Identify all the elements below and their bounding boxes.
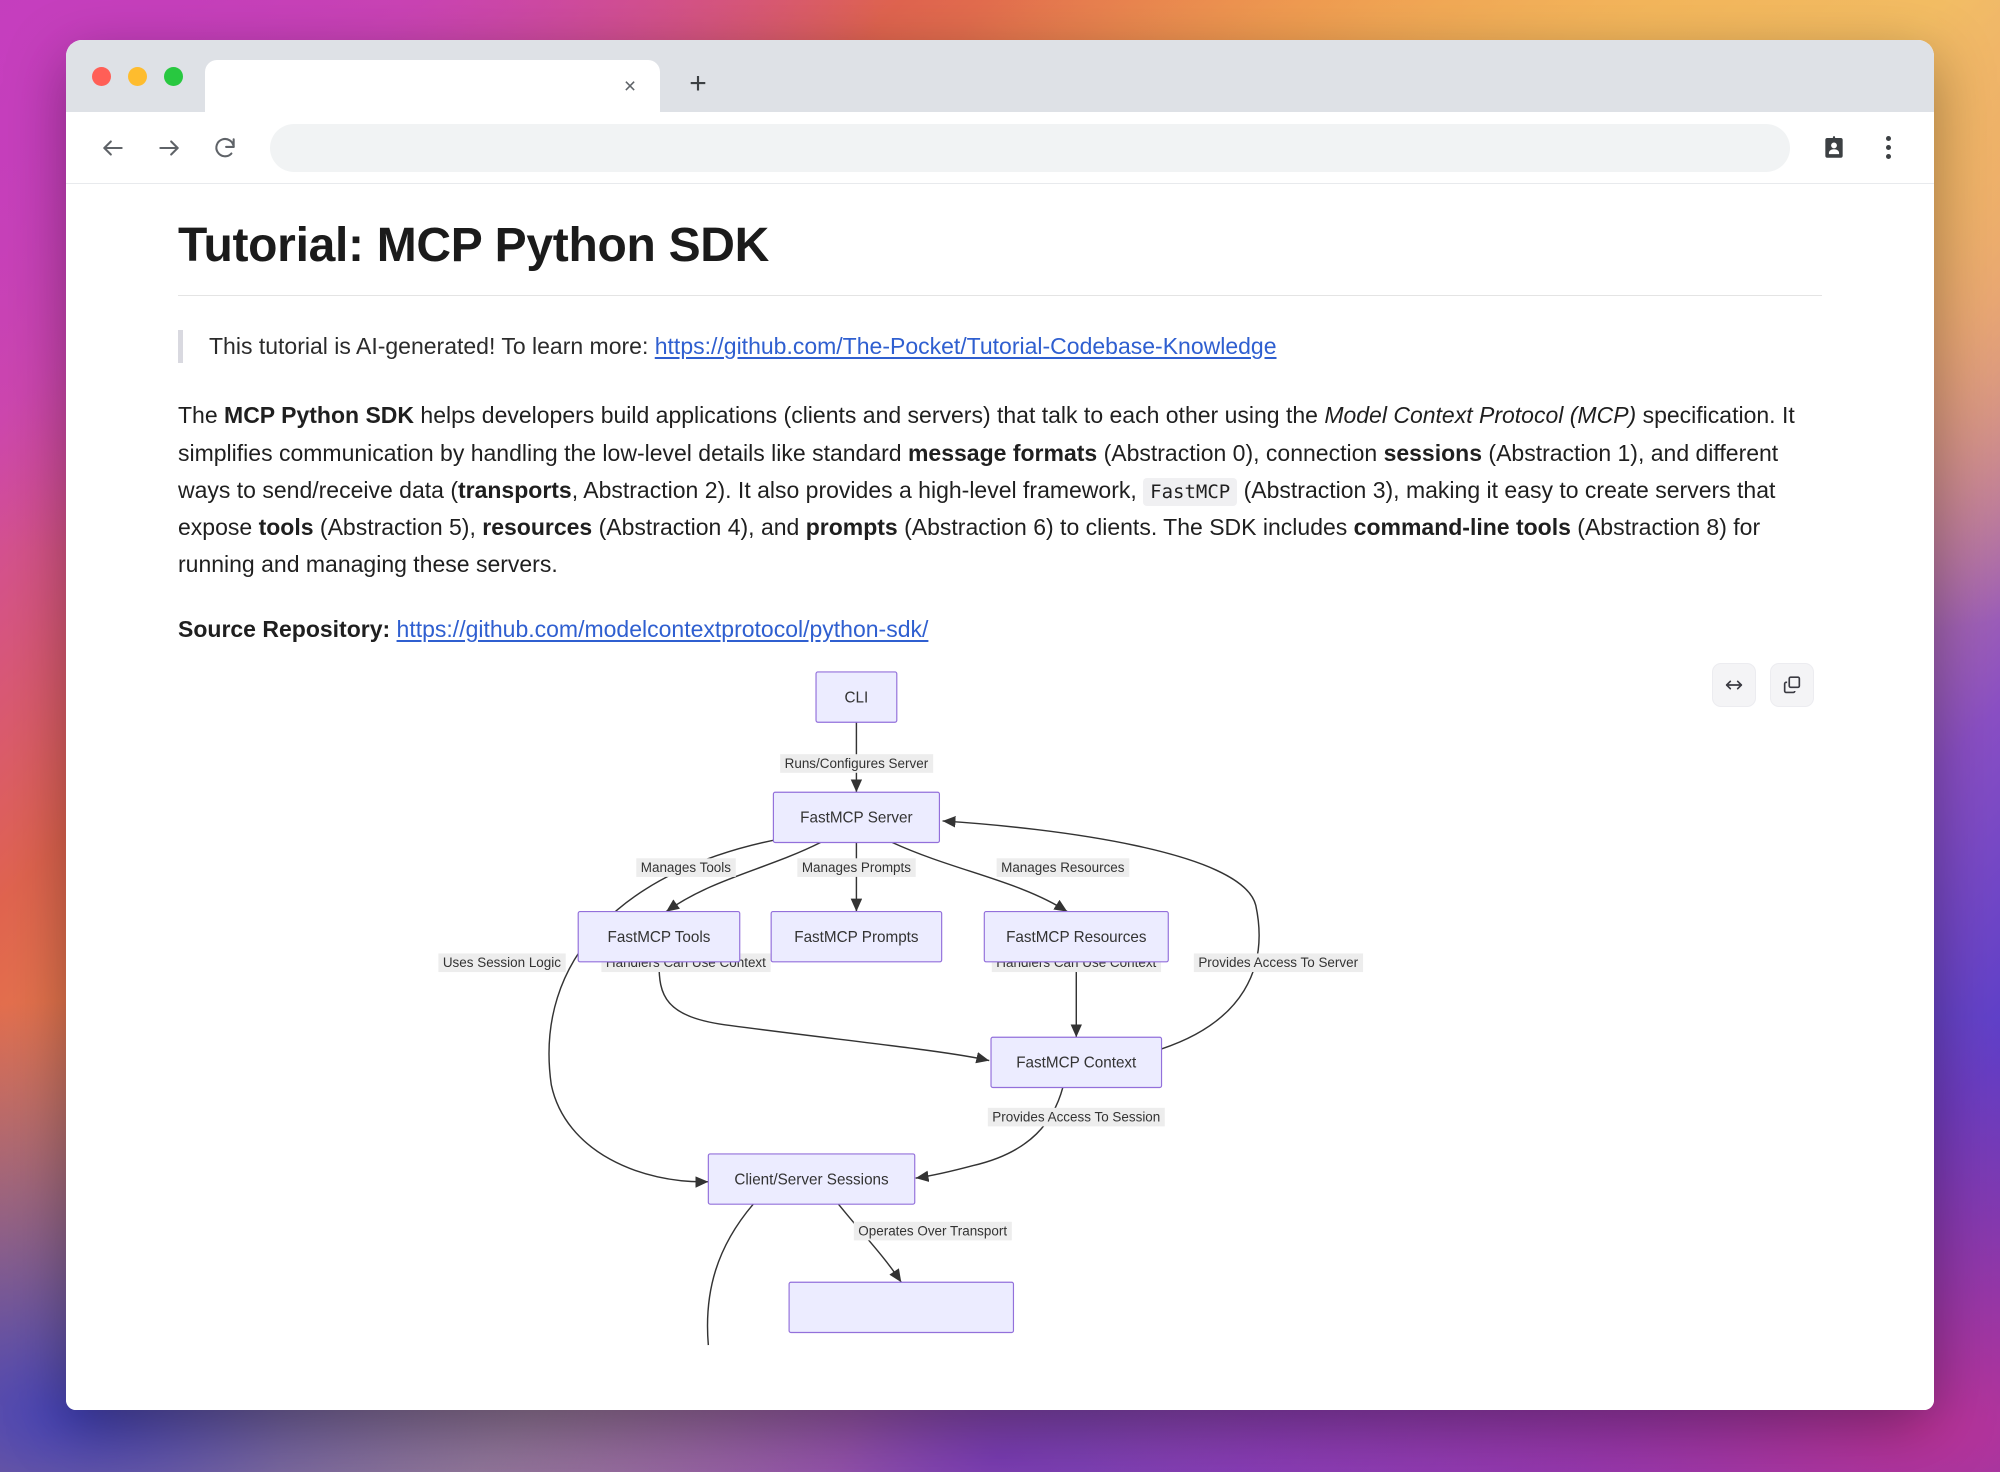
ai-generated-note: This tutorial is AI-generated! To learn … (178, 330, 1822, 363)
p-i1: Model Context Protocol (MCP) (1324, 402, 1636, 428)
diagram-edge-label: Operates Over Transport (854, 1221, 1012, 1240)
diagram-node-prompts: FastMCP Prompts (771, 911, 942, 961)
diagram-node-label: FastMCP Server (800, 809, 912, 826)
diagram-node-context: FastMCP Context (991, 1037, 1162, 1087)
svg-text:Manages Prompts: Manages Prompts (802, 860, 911, 875)
p-b6: resources (482, 514, 592, 540)
diagram-edge (892, 842, 1067, 911)
diagram-node-server: FastMCP Server (773, 792, 939, 842)
maximize-window-button[interactable] (164, 67, 183, 86)
diagram-node-label: CLI (845, 689, 869, 706)
p-b1: MCP Python SDK (224, 402, 414, 428)
new-tab-button[interactable]: + (674, 60, 722, 108)
p-s1: The (178, 402, 224, 428)
tab-strip: × + (66, 40, 1934, 112)
svg-text:Uses Session Logic: Uses Session Logic (443, 955, 561, 970)
svg-text:Provides Access To Session: Provides Access To Session (992, 1109, 1160, 1124)
minimize-window-button[interactable] (128, 67, 147, 86)
fit-width-button[interactable] (1712, 663, 1756, 707)
copy-button[interactable] (1770, 663, 1814, 707)
diagram-edge (838, 1204, 901, 1282)
browser-tab[interactable]: × (205, 60, 660, 112)
browser-toolbar (66, 112, 1934, 184)
diagram-node-sessions: Client/Server Sessions (708, 1153, 914, 1203)
three-dot-menu-icon[interactable] (1864, 124, 1912, 172)
window-controls (66, 67, 205, 112)
close-tab-icon[interactable]: × (616, 72, 644, 100)
profile-card-icon[interactable] (1810, 124, 1858, 172)
note-text: This tutorial is AI-generated! To learn … (209, 333, 655, 359)
diagram-node-tools: FastMCP Tools (578, 911, 740, 961)
diagram-edge-label: Provides Access To Session (988, 1107, 1165, 1126)
diagram-edge (916, 1087, 1063, 1178)
p-b7: prompts (806, 514, 898, 540)
fastmcp-code-chip: FastMCP (1143, 478, 1237, 506)
browser-window: × + (66, 40, 1934, 1410)
diagram-node-label: FastMCP Tools (608, 929, 711, 946)
source-repository-link[interactable]: https://github.com/modelcontextprotocol/… (397, 616, 929, 642)
p-s4: (Abstraction 0), connection (1097, 440, 1383, 466)
mermaid-diagram-container: Runs/Configures ServerManages ToolsManag… (178, 663, 1822, 1363)
address-bar[interactable] (270, 124, 1790, 172)
diagram-node-transport (789, 1282, 1013, 1332)
close-window-button[interactable] (92, 67, 111, 86)
diagram-edge (666, 842, 820, 911)
p-s2: helps developers build applications (cli… (414, 402, 1324, 428)
p-b4: transports (458, 477, 572, 503)
diagram-node-label: FastMCP Context (1016, 1054, 1137, 1071)
diagram-edge (659, 961, 989, 1060)
diagram-edge-label: Manages Tools (636, 858, 735, 877)
page-title: Tutorial: MCP Python SDK (178, 218, 1822, 296)
diagram-edge-label: Manages Prompts (797, 858, 915, 877)
diagram-edge-label: Runs/Configures Server (780, 754, 933, 773)
p-s10: (Abstraction 6) to clients. The SDK incl… (898, 514, 1354, 540)
source-repository-line: Source Repository: https://github.com/mo… (178, 616, 1822, 643)
diagram-edge-label: Provides Access To Server (1194, 953, 1363, 972)
source-repository-label: Source Repository: (178, 616, 397, 642)
svg-text:Runs/Configures Server: Runs/Configures Server (785, 756, 929, 771)
p-s6: , Abstraction 2). It also provides a hig… (572, 477, 1143, 503)
svg-text:Manages Resources: Manages Resources (1001, 860, 1125, 875)
intro-paragraph: The MCP Python SDK helps developers buil… (178, 397, 1822, 583)
forward-arrow-icon[interactable] (144, 123, 194, 173)
svg-text:Manages Tools: Manages Tools (641, 860, 732, 875)
p-s8: (Abstraction 5), (314, 514, 483, 540)
mermaid-flowchart: Runs/Configures ServerManages ToolsManag… (178, 663, 1822, 1363)
svg-text:Operates Over Transport: Operates Over Transport (858, 1223, 1007, 1238)
diagram-edge (549, 838, 780, 1181)
p-s9: (Abstraction 4), and (592, 514, 806, 540)
reload-icon[interactable] (200, 123, 250, 173)
diagram-node-label: FastMCP Resources (1006, 929, 1147, 946)
diagram-toolbar (1712, 663, 1814, 707)
p-b8: command-line tools (1354, 514, 1571, 540)
back-arrow-icon[interactable] (88, 123, 138, 173)
page-viewport[interactable]: Tutorial: MCP Python SDK This tutorial i… (66, 184, 1934, 1410)
p-b2: message formats (908, 440, 1097, 466)
diagram-edge-label: Manages Resources (997, 858, 1130, 877)
p-b5: tools (259, 514, 314, 540)
p-b3: sessions (1384, 440, 1482, 466)
diagram-node-resources: FastMCP Resources (984, 911, 1168, 961)
diagram-node-cli: CLI (816, 672, 897, 722)
svg-text:Provides Access To Server: Provides Access To Server (1198, 955, 1358, 970)
diagram-node-label: FastMCP Prompts (794, 929, 919, 946)
tutorial-repo-link[interactable]: https://github.com/The-Pocket/Tutorial-C… (655, 333, 1277, 359)
diagram-edge-label: Uses Session Logic (438, 953, 565, 972)
diagram-edge (708, 1204, 754, 1345)
diagram-node-label: Client/Server Sessions (734, 1171, 889, 1188)
page-content: Tutorial: MCP Python SDK This tutorial i… (66, 184, 1934, 1363)
